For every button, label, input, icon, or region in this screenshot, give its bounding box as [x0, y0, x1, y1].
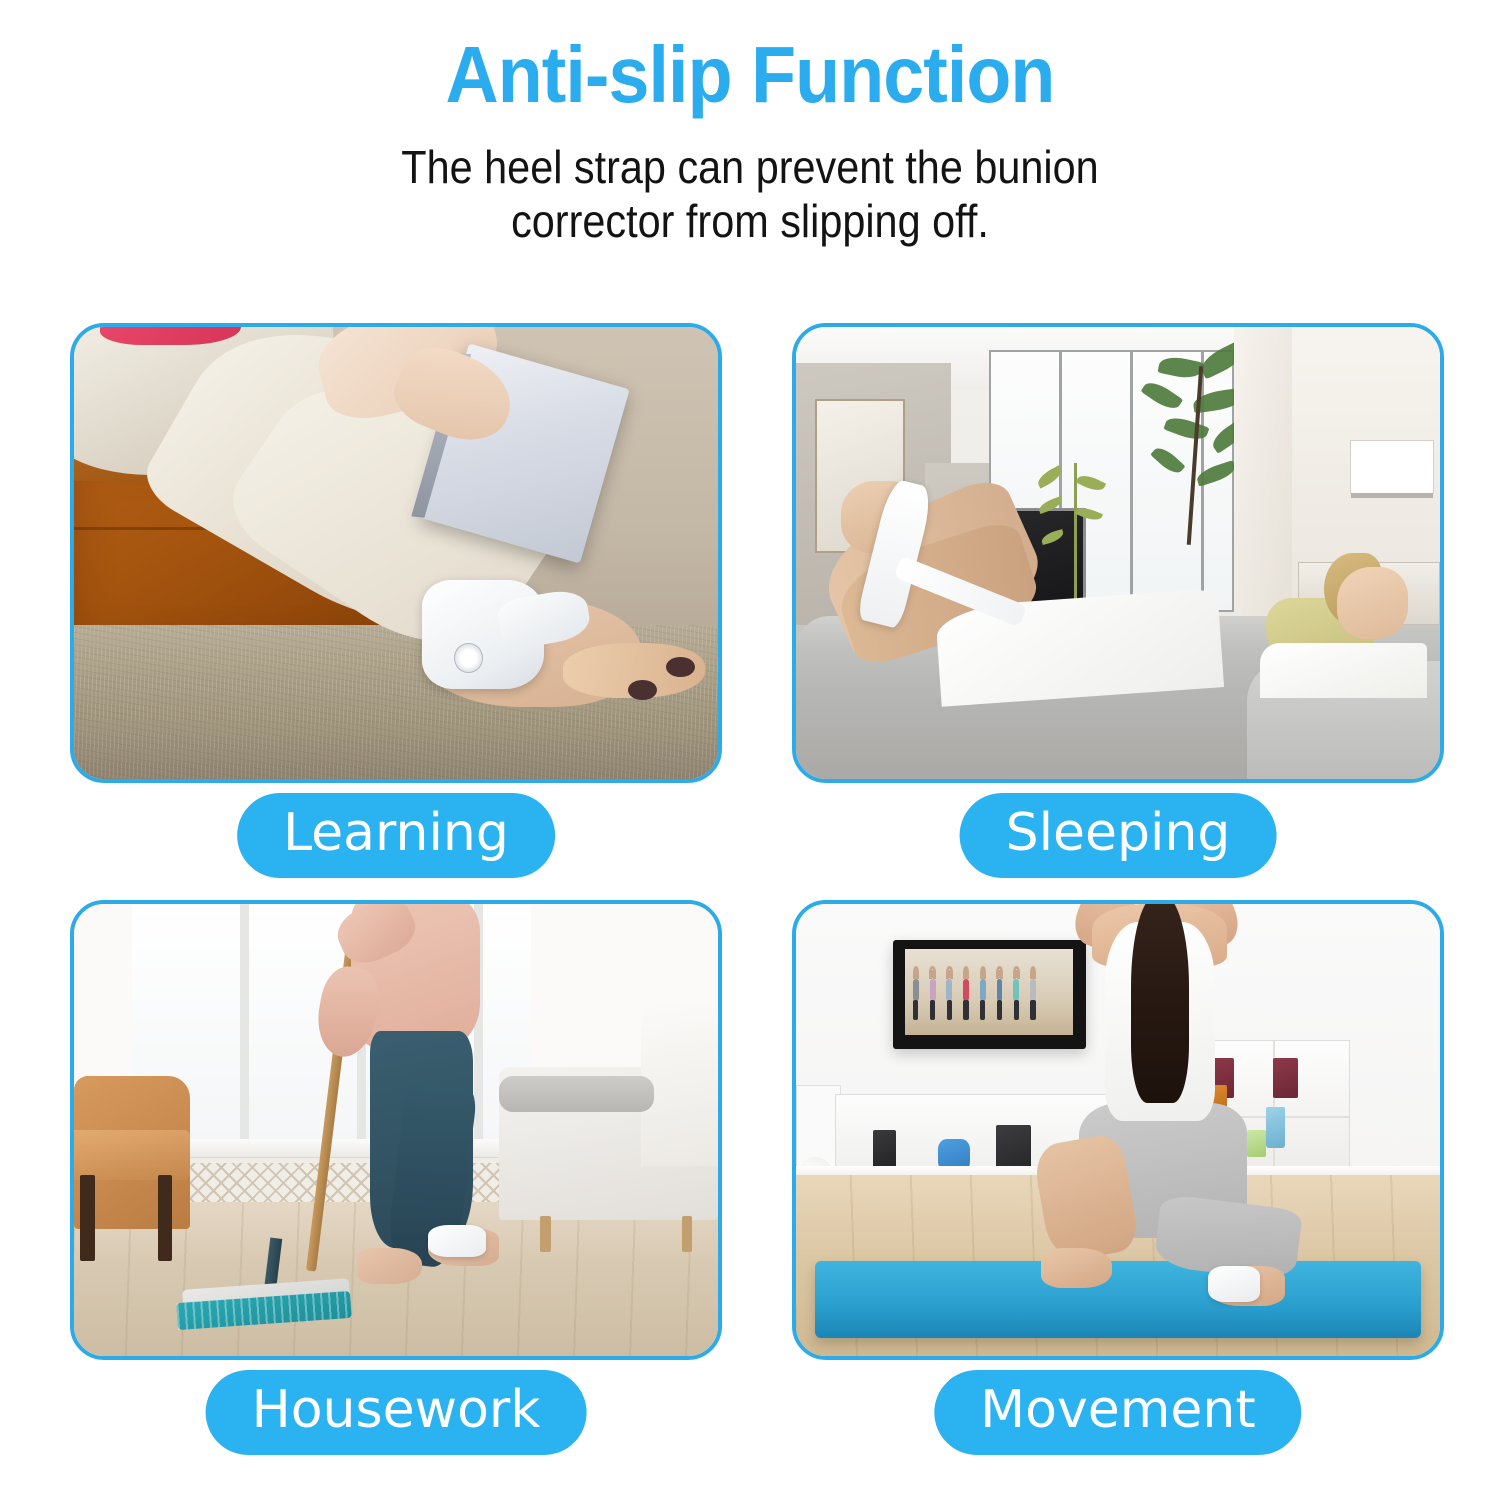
use-case-card-sleeping[interactable]: Blonde woman resting on a grey sofa with… [792, 323, 1444, 783]
photo-movement: Woman in a white tank top and grey sweat… [792, 900, 1444, 1360]
scene-movement-illustration [796, 904, 1440, 1356]
subtitle-line-1: The heel strap can prevent the bunion [75, 140, 1425, 194]
yoga-mat [815, 1261, 1420, 1338]
subtitle-line-2: corrector from slipping off. [75, 194, 1425, 248]
badge-movement: Movement [934, 1370, 1301, 1455]
use-case-card-housework[interactable]: Woman in a pink top and teal jeans moppi… [70, 900, 722, 1360]
scene-housework-illustration [74, 904, 718, 1356]
photo-housework: Woman in a pink top and teal jeans moppi… [70, 900, 722, 1360]
badge-learning: Learning [237, 793, 555, 878]
use-case-grid: Woman sitting on the floor against an or… [70, 323, 1430, 1363]
header: Anti-slip Function The heel strap can pr… [0, 0, 1500, 248]
photo-learning: Woman sitting on the floor against an or… [70, 323, 722, 783]
use-case-card-movement[interactable]: Woman in a white tank top and grey sweat… [792, 900, 1444, 1360]
use-case-card-learning[interactable]: Woman sitting on the floor against an or… [70, 323, 722, 783]
infographic-page: Anti-slip Function The heel strap can pr… [0, 0, 1500, 1500]
page-title: Anti-slip Function [60, 34, 1440, 116]
tv-screen [905, 949, 1072, 1035]
page-subtitle: The heel strap can prevent the bunion co… [75, 140, 1425, 249]
photo-sleeping: Blonde woman resting on a grey sofa with… [792, 323, 1444, 783]
badge-sleeping: Sleeping [960, 793, 1277, 878]
scene-sleeping-illustration [796, 327, 1440, 779]
scene-learning-illustration [74, 327, 718, 779]
badge-housework: Housework [206, 1370, 587, 1455]
